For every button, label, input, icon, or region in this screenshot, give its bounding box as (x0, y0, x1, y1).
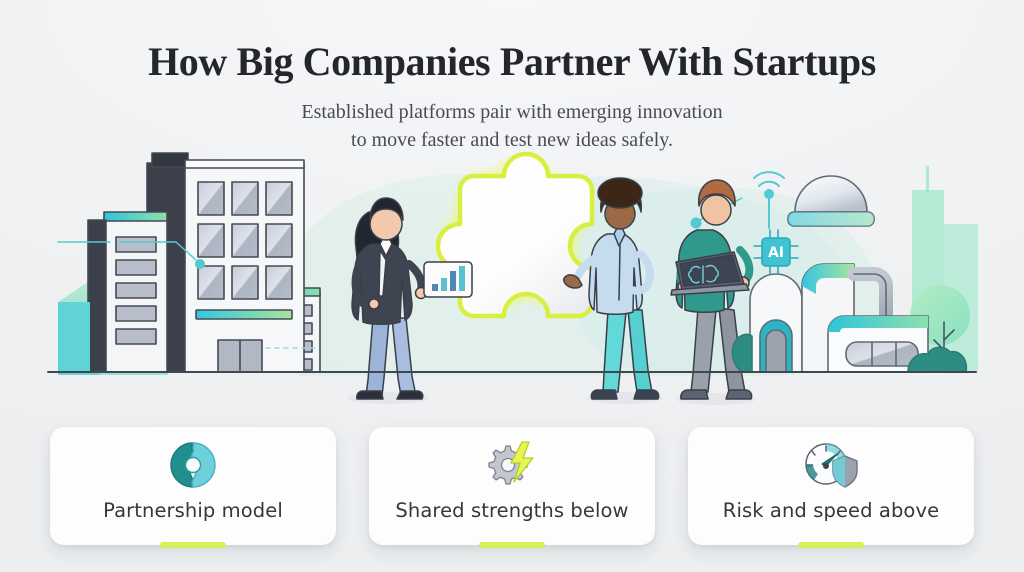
card-accent-bar (160, 542, 226, 548)
card-accent-bar (798, 542, 864, 548)
card-label: Risk and speed above (723, 499, 939, 522)
split-circle-icon (168, 440, 218, 490)
subtitle-line-1: Established platforms pair with emerging… (301, 101, 722, 123)
hero-illustration: AI (0, 150, 1024, 420)
poster-root: How Big Companies Partner With Startups … (0, 0, 1024, 572)
illustration-svg: AI (0, 150, 1024, 420)
card-shared-strengths[interactable]: Shared strengths below (369, 427, 655, 545)
card-risk-and-speed[interactable]: Risk and speed above (688, 427, 974, 545)
subtitle-line-2: to move faster and test new ideas safely… (351, 129, 673, 151)
card-label: Partnership model (103, 499, 283, 522)
page-subtitle: Established platforms pair with emerging… (0, 99, 1024, 154)
gauge-shield-icon (801, 440, 861, 490)
card-accent-bar (479, 542, 545, 548)
header: How Big Companies Partner With Startups … (0, 0, 1024, 154)
corporate-buildings (58, 153, 320, 372)
card-label: Shared strengths below (395, 499, 628, 522)
page-title: How Big Companies Partner With Startups (0, 0, 1024, 85)
gear-bolt-icon (484, 440, 540, 490)
ai-chip-label: AI (768, 245, 784, 261)
card-partnership-model[interactable]: Partnership model (50, 427, 336, 545)
feature-cards: Partnership model Shared strengths below (0, 427, 1024, 552)
